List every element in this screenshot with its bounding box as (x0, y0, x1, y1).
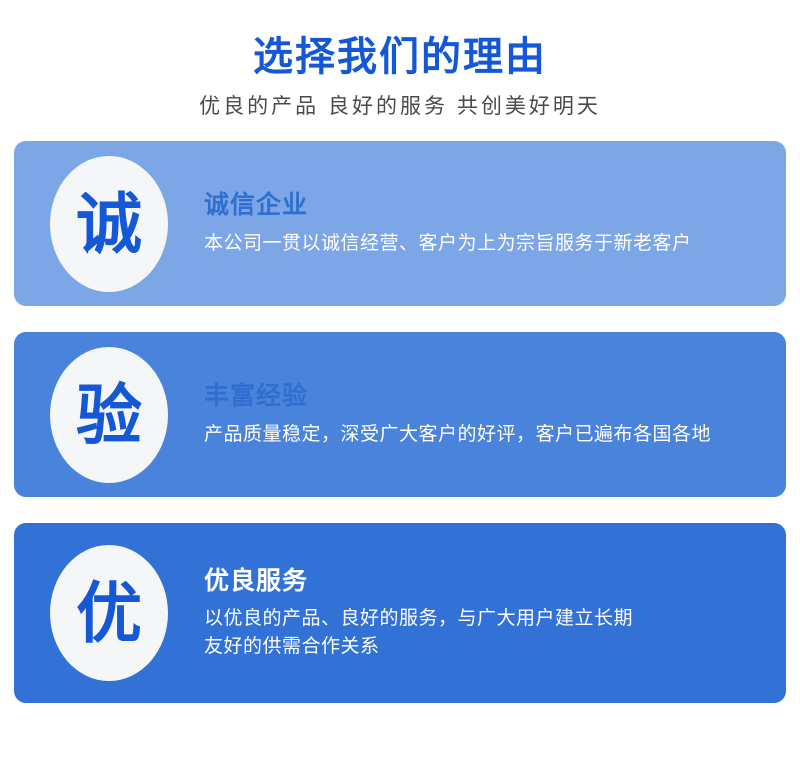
reason-card-integrity: 诚 诚信企业 本公司一贯以诚信经营、客户为上为宗旨服务于新老客户 (14, 141, 786, 306)
badge-circle-integrity: 诚 (50, 156, 168, 292)
card-title: 诚信企业 (204, 190, 762, 221)
card-description: 产品质量稳定，深受广大客户的好评，客户已遍布各国各地 (204, 421, 762, 449)
page-header: 选择我们的理由 优良的产品 良好的服务 共创美好明天 (0, 0, 800, 119)
badge-circle-experience: 验 (50, 347, 168, 483)
badge-character-icon: 优 (76, 580, 142, 646)
card-body-integrity: 诚信企业 本公司一贯以诚信经营、客户为上为宗旨服务于新老客户 (204, 190, 786, 257)
card-title: 丰富经验 (204, 381, 762, 412)
page-subtitle: 优良的产品 良好的服务 共创美好明天 (0, 94, 800, 119)
card-body-experience: 丰富经验 产品质量稳定，深受广大客户的好评，客户已遍布各国各地 (204, 381, 786, 448)
promo-banner-page: 选择我们的理由 优良的产品 良好的服务 共创美好明天 诚 诚信企业 本公司一贯以… (0, 0, 800, 765)
badge-character-icon: 诚 (76, 191, 142, 257)
card-title: 优良服务 (204, 566, 762, 597)
badge-character-icon: 验 (76, 382, 142, 448)
reason-card-service: 优 优良服务 以优良的产品、良好的服务，与广大用户建立长期 友好的供需合作关系 (14, 523, 786, 703)
badge-circle-service: 优 (50, 545, 168, 681)
card-description: 本公司一贯以诚信经营、客户为上为宗旨服务于新老客户 (204, 230, 762, 258)
page-title: 选择我们的理由 (0, 34, 800, 80)
card-description: 以优良的产品、良好的服务，与广大用户建立长期 友好的供需合作关系 (204, 605, 762, 660)
reason-card-list: 诚 诚信企业 本公司一贯以诚信经营、客户为上为宗旨服务于新老客户 验 丰富经验 … (0, 141, 800, 703)
reason-card-experience: 验 丰富经验 产品质量稳定，深受广大客户的好评，客户已遍布各国各地 (14, 332, 786, 497)
card-body-service: 优良服务 以优良的产品、良好的服务，与广大用户建立长期 友好的供需合作关系 (204, 566, 786, 660)
